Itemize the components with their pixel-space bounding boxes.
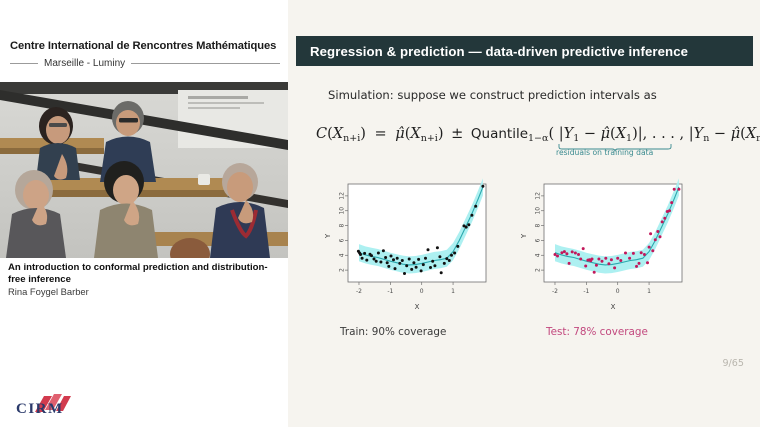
slide-header-bar: Regression & prediction — data-driven pr… — [296, 36, 753, 66]
simulation-intro-text: Simulation: suppose we construct predict… — [328, 88, 657, 102]
organization-location: Marseille - Luminy — [44, 58, 125, 69]
divider-left — [10, 63, 38, 64]
svg-text:12: 12 — [339, 192, 346, 200]
svg-text:C(Xn+i) =: C(Xn+i) = μ̂(Xn+i) ± Quantile1−α( |Y1 − … — [316, 126, 760, 144]
equation-graphic: C(Xn+i) = μ̂(Xn+i) ± Quantile1−α( |Y1 − … — [316, 116, 760, 156]
svg-text:6: 6 — [535, 238, 542, 242]
cirm-logo: CIRM — [14, 392, 104, 418]
svg-text:8: 8 — [339, 223, 346, 227]
equation-annotation: residuals on training data — [556, 148, 653, 157]
svg-text:6: 6 — [339, 238, 346, 242]
audience-photo-graphic — [0, 82, 288, 258]
svg-text:0: 0 — [616, 288, 620, 295]
svg-text:1: 1 — [647, 288, 651, 295]
lecture-video-thumbnail[interactable] — [0, 82, 288, 258]
presentation-slide: Regression & prediction — data-driven pr… — [288, 0, 760, 427]
chart-train-graphic: 24681012 -2-101 Y X — [318, 178, 498, 318]
left-info-panel: Centre International de Rencontres Mathé… — [0, 0, 288, 427]
svg-text:2: 2 — [339, 268, 346, 272]
svg-text:12: 12 — [535, 192, 542, 200]
simulation-charts: 24681012 -2-101 Y X 24681012 -2-101 Y — [318, 178, 738, 318]
chart-test-ylabel: Y — [520, 233, 528, 239]
chart-train: 24681012 -2-101 Y X — [318, 178, 498, 318]
svg-text:CIRM: CIRM — [16, 401, 64, 417]
caption-test: Test: 78% coverage — [546, 326, 648, 338]
organization-subtitle-row: Marseille - Luminy — [10, 58, 280, 69]
svg-text:-1: -1 — [583, 288, 589, 295]
svg-text:4: 4 — [339, 253, 346, 257]
svg-text:4: 4 — [535, 253, 542, 257]
svg-text:2: 2 — [535, 268, 542, 272]
slide-viewer-page: Centre International de Rencontres Mathé… — [0, 0, 760, 427]
divider-right — [131, 63, 280, 64]
svg-text:0: 0 — [420, 288, 424, 295]
svg-text:-1: -1 — [387, 288, 393, 295]
svg-text:1: 1 — [451, 288, 455, 295]
talk-title: An introduction to conformal prediction … — [8, 262, 283, 285]
chart-captions: Train: 90% coverage Test: 78% coverage — [318, 326, 738, 344]
chart-test-xlabel: X — [611, 303, 616, 311]
caption-train: Train: 90% coverage — [340, 326, 446, 338]
svg-text:8: 8 — [535, 223, 542, 227]
svg-text:-2: -2 — [356, 288, 362, 295]
organization-title: Centre International de Rencontres Mathé… — [10, 40, 280, 52]
chart-train-ylabel: Y — [324, 233, 332, 239]
organization-header: Centre International de Rencontres Mathé… — [10, 40, 280, 69]
svg-text:10: 10 — [535, 207, 542, 215]
prediction-interval-equation: C(Xn+i) = μ̂(Xn+i) ± Quantile1−α( |Y1 − … — [316, 116, 760, 156]
page-number: 9/65 — [722, 358, 744, 369]
chart-train-xlabel: X — [415, 303, 420, 311]
slide-title: Regression & prediction — data-driven pr… — [296, 44, 688, 59]
cirm-logo-graphic: CIRM — [14, 392, 104, 418]
chart-test: 24681012 -2-101 Y X — [514, 178, 694, 318]
talk-info: An introduction to conformal prediction … — [8, 262, 283, 297]
talk-speaker: Rina Foygel Barber — [8, 286, 283, 297]
svg-text:-2: -2 — [552, 288, 558, 295]
chart-test-graphic: 24681012 -2-101 Y X — [514, 178, 694, 318]
svg-text:10: 10 — [339, 207, 346, 215]
